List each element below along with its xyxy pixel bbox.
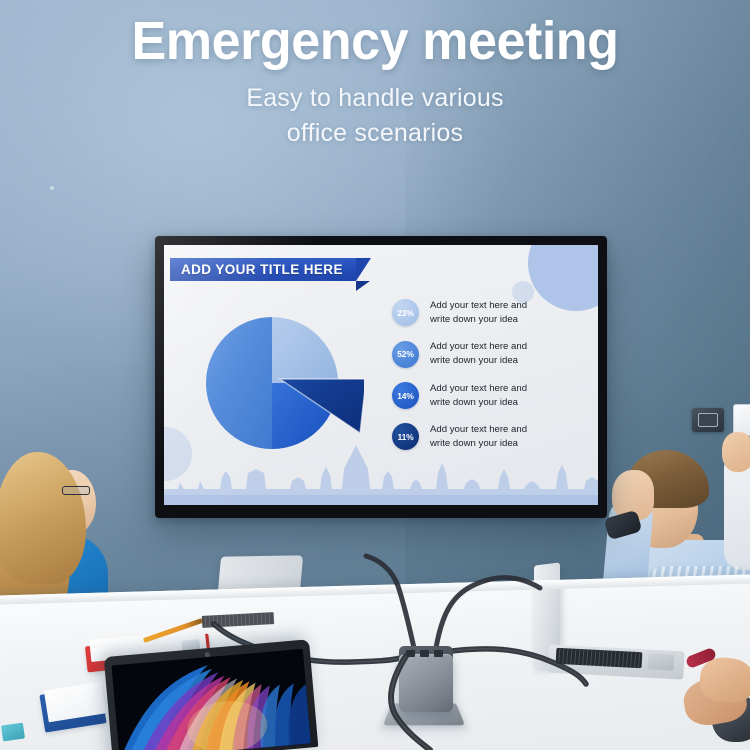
- subtitle-line-1: Easy to handle various: [0, 81, 750, 117]
- legend-item: 14% Add your text here and write down yo…: [392, 382, 588, 410]
- legend-line-2: write down your idea: [430, 437, 527, 451]
- slide-title-banner: ADD YOUR TITLE HERE: [170, 258, 356, 281]
- legend-text: Add your text here and write down your i…: [430, 299, 527, 327]
- legend-bubble: 52%: [392, 341, 419, 368]
- legend-line-1: Add your text here and: [430, 340, 527, 354]
- laptop-wallpaper: [111, 649, 311, 750]
- subtitle-line-2: office scenarios: [0, 116, 750, 152]
- display-screen: ADD YOUR TITLE HERE: [164, 245, 598, 505]
- pie-chart-svg: [188, 297, 364, 473]
- wall-mounted-display[interactable]: ADD YOUR TITLE HERE: [155, 236, 607, 518]
- legend-line-1: Add your text here and: [430, 299, 527, 313]
- sticky-note[interactable]: [1, 723, 25, 742]
- legend-line-1: Add your text here and: [430, 382, 527, 396]
- headline-block: Emergency meeting Easy to handle various…: [0, 0, 750, 152]
- chart-legend: 23% Add your text here and write down yo…: [392, 299, 588, 464]
- person-right-hand-upper: [722, 432, 750, 472]
- legend-bubble: 23%: [392, 299, 419, 326]
- wall-outlet-icon[interactable]: [692, 408, 724, 432]
- legend-text: Add your text here and write down your i…: [430, 423, 527, 451]
- legend-line-2: write down your idea: [430, 396, 527, 410]
- legend-bubble: 14%: [392, 382, 419, 409]
- legend-text: Add your text here and write down your i…: [430, 340, 527, 368]
- slide-title-text: ADD YOUR TITLE HERE: [181, 262, 343, 277]
- woman-glasses: [62, 486, 90, 495]
- page-subtitle: Easy to handle various office scenarios: [0, 70, 750, 152]
- legend-bubble: 11%: [392, 423, 419, 450]
- legend-line-2: write down your idea: [430, 354, 527, 368]
- page-title: Emergency meeting: [13, 0, 737, 70]
- legend-line-2: write down your idea: [430, 313, 527, 327]
- laptop-foreground-screen: [111, 649, 311, 750]
- banner-tail: [356, 258, 371, 281]
- legend-line-1: Add your text here and: [430, 423, 527, 437]
- pie-chart: [188, 297, 364, 473]
- hub-port-2[interactable]: [420, 650, 429, 657]
- legend-item: 23% Add your text here and write down yo…: [392, 299, 588, 327]
- laptop-right-trackpad[interactable]: [648, 653, 675, 670]
- usb-c-docking-station[interactable]: [399, 654, 453, 712]
- banner-fold: [356, 281, 370, 291]
- wall-speck: [50, 186, 54, 190]
- legend-item: 52% Add your text here and write down yo…: [392, 340, 588, 368]
- hub-port-3[interactable]: [434, 650, 443, 657]
- laptop-foreground[interactable]: [104, 639, 319, 750]
- legend-text: Add your text here and write down your i…: [430, 382, 527, 410]
- legend-item: 11% Add your text here and write down yo…: [392, 423, 588, 451]
- hub-port-1[interactable]: [406, 650, 415, 657]
- scene-root: Emergency meeting Easy to handle various…: [0, 0, 750, 750]
